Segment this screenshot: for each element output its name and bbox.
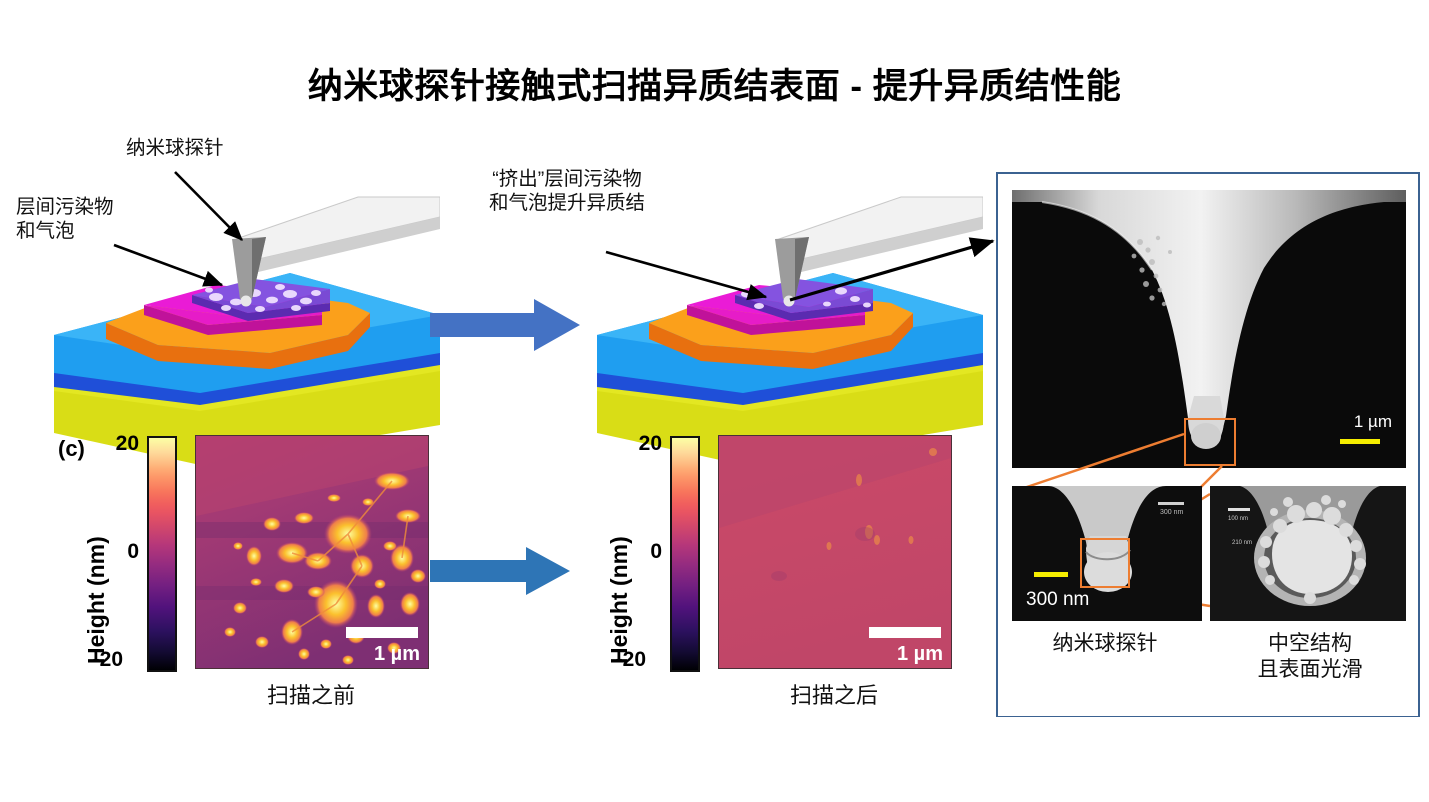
afm-after-tick-min: -20 — [602, 648, 646, 672]
sem-image-nanosphere: 300 nm 300 nm — [1012, 486, 1202, 621]
label-nanosphere-probe: 纳米球探针 — [126, 137, 224, 161]
afm-after-scalebar-label: 1 µm — [897, 643, 943, 666]
zoom-box-tip-apex — [1184, 418, 1236, 466]
svg-text:210 nm: 210 nm — [1232, 540, 1252, 546]
zoom-box-nanosphere — [1080, 538, 1130, 588]
sem-tip-scale-bar — [1340, 439, 1380, 444]
afm-after-colorbar — [670, 436, 700, 672]
afm-before-tick-min: -20 — [79, 648, 123, 672]
afm-after-image: 1 µm — [718, 435, 952, 669]
afm-before-scalebar — [346, 627, 418, 638]
figure-title: 纳米球探针接触式扫描异质结表面 - 提升异质结性能 — [0, 58, 1429, 109]
sem-tip-scale-label: 1 µm — [1354, 412, 1392, 432]
afm-before-caption: 扫描之前 — [195, 678, 427, 710]
process-arrow-afm — [430, 545, 570, 597]
afm-before-tick-max: 20 — [95, 432, 139, 456]
afm-before-image: 1 µm — [195, 435, 429, 669]
process-arrow-schematic — [430, 297, 580, 353]
schematic-after-scan — [583, 175, 983, 465]
sem-image-tip: 1 µm — [1012, 190, 1406, 468]
sem-ball-scale-label: 300 nm — [1026, 589, 1089, 611]
svg-text:100 nm: 100 nm — [1228, 516, 1248, 522]
afm-after-scalebar — [869, 627, 941, 638]
label-squeeze-out: “挤出”层间污染物 和气泡提升异质结 — [489, 168, 645, 216]
sem-caption-hollow: 中空结构 且表面光滑 — [1210, 631, 1410, 682]
tem-image-hollow-structure: 100 nm 210 nm — [1210, 486, 1406, 621]
afm-before-scalebar-label: 1 µm — [374, 643, 420, 666]
sem-caption-probe: 纳米球探针 — [1005, 631, 1205, 657]
label-interlayer-contaminant: 层间污染物 和气泡 — [16, 196, 114, 244]
afm-panel-before: Height (nm) 20 0 -20 — [55, 432, 435, 722]
afm-before-colorbar — [147, 436, 177, 672]
afm-after-caption: 扫描之后 — [718, 678, 950, 710]
afm-before-tick-mid: 0 — [95, 540, 139, 564]
afm-after-tick-max: 20 — [618, 432, 662, 456]
schematic-after-svg — [583, 175, 983, 465]
afm-after-tick-mid: 0 — [618, 540, 662, 564]
afm-panel-after: Height (nm) 20 0 -20 — [578, 432, 958, 722]
svg-text:300 nm: 300 nm — [1160, 509, 1184, 516]
sem-ball-scale-bar — [1034, 572, 1068, 577]
